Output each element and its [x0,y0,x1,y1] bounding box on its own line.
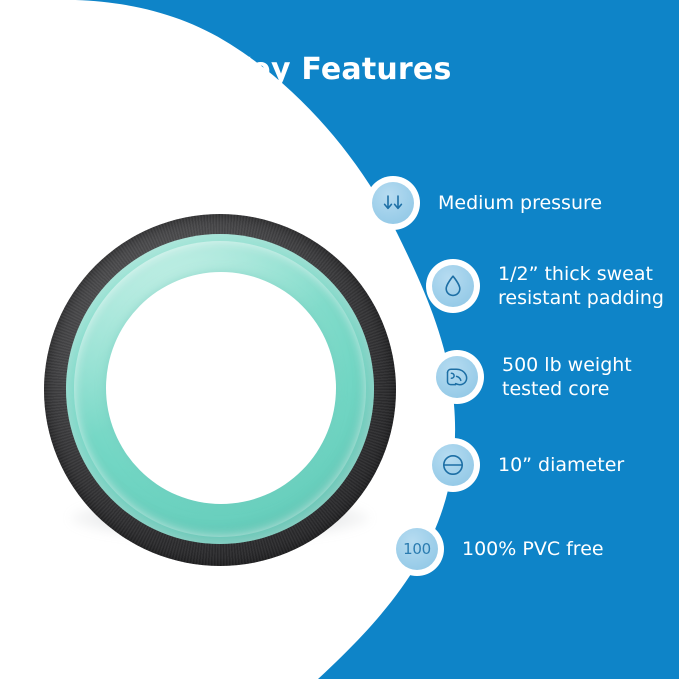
water-droplet-icon [432,265,474,307]
double-down-arrow-icon [372,182,414,224]
badge-number-text: 100 [403,540,431,558]
feature-item-sweat-resistant-padding: 1/2” thick sweat resistant padding [426,259,664,313]
key-features-infographic: Key Features Medium pressure [0,0,679,679]
feature-item-medium-pressure: Medium pressure [366,176,602,230]
feature-label: 10” diameter [498,453,624,477]
badge-halo [430,350,484,404]
feature-item-diameter: 10” diameter [426,438,624,492]
feature-label: 1/2” thick sweat resistant padding [498,262,664,310]
flexed-bicep-icon [436,356,478,398]
diameter-circle-icon [432,444,474,486]
feature-label: 100% PVC free [462,537,604,561]
badge-halo: 100 [390,522,444,576]
badge-halo [426,259,480,313]
hundred-badge-icon: 100 [396,528,438,570]
feature-label: Medium pressure [438,191,602,215]
badge-halo [366,176,420,230]
product-image-yoga-wheel [44,214,396,566]
feature-label: 500 lb weight tested core [502,353,632,401]
wheel-center-hub [106,272,336,504]
page-title: Key Features [0,52,679,87]
feature-item-weight-tested-core: 500 lb weight tested core [430,350,632,404]
badge-halo [426,438,480,492]
feature-item-pvc-free: 100 100% PVC free [390,522,604,576]
